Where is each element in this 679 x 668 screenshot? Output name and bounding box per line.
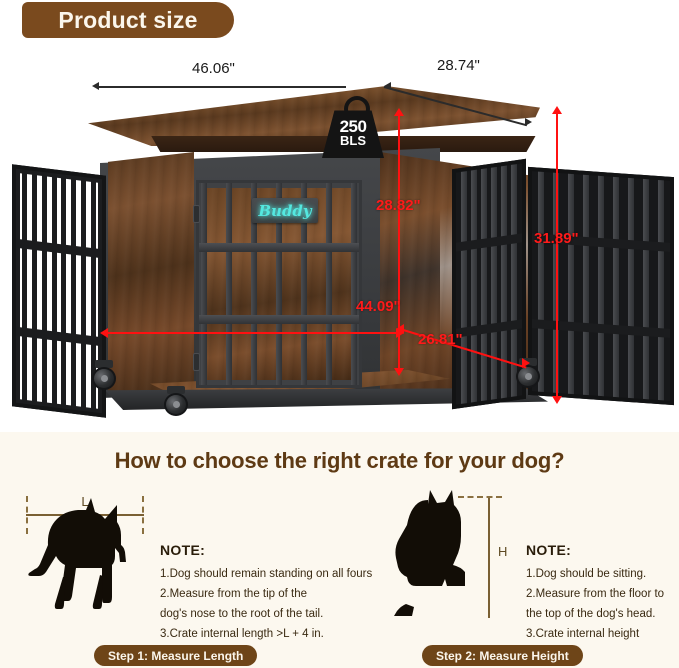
weight-capacity-unit: BLS [340, 134, 366, 148]
note-length-line-1: 1.Dog should remain standing on all four… [160, 564, 350, 584]
crate-selection-guide-section: How to choose the right crate for your d… [0, 432, 679, 668]
dim-arrow-width-left [92, 82, 99, 90]
note-height-line-1: 1.Dog should be sitting. [526, 564, 676, 584]
product-infographic: Product size [0, 0, 679, 668]
sitting-dog-illustration: H [384, 482, 534, 624]
crate-front-door-hinge-top [193, 205, 200, 223]
crate-nameplate: Buddy [252, 198, 318, 223]
crate-nameplate-text: Buddy [258, 202, 311, 220]
dog-crate-illustration: Buddy [0, 52, 679, 420]
note-length-line-4: 3.Crate internal length >L + 4 in. [160, 624, 350, 644]
dim-arrow-depth-right [525, 118, 532, 126]
dim-line-overall-height [556, 110, 558, 402]
dim-label-inner-depth: 26.81" [418, 331, 463, 348]
weight-capacity-value: 250 [340, 119, 367, 134]
guide-title: How to choose the right crate for your d… [0, 448, 679, 474]
crate-left-door-vertical-bars [16, 169, 102, 414]
dim-arrow-inner-depth-left [396, 324, 404, 334]
guide-panel-length: L NOTE: 1.Dog should remain standing on … [8, 482, 344, 622]
crate-left-interior-wood-panel [108, 152, 194, 398]
crate-top-edge [88, 136, 540, 152]
crate-front-door-crossbar-lower [199, 315, 359, 324]
crate-front-door-crossbar-upper [199, 243, 359, 252]
crate-right-open-door-outer-leaf [528, 167, 674, 405]
step-badge-measure-length: Step 1: Measure Length [94, 645, 257, 666]
product-size-section: Product size [0, 0, 679, 432]
product-size-badge-label: Product size [58, 7, 197, 34]
dog-standing-icon [8, 482, 158, 624]
guide-panel-height: H NOTE: 1.Dog should be sitting. 2.Measu… [344, 482, 676, 622]
caster-wheel-front-left [92, 360, 116, 390]
dim-arrow-overall-height-top [552, 106, 562, 114]
note-height-line-2: 2.Measure from the floor to [526, 584, 676, 604]
dim-label-overall-height: 31.89" [534, 230, 579, 247]
note-length-title: NOTE: [160, 540, 350, 560]
note-height-title: NOTE: [526, 540, 676, 560]
dim-line-inner-length [106, 332, 402, 334]
caster-wheel-front-center [164, 386, 188, 416]
standing-dog-illustration: L [8, 482, 158, 624]
height-measure-marker: H [476, 488, 526, 618]
note-height-line-4: 3.Crate internal height [526, 624, 676, 644]
note-length: NOTE: 1.Dog should remain standing on al… [160, 540, 350, 644]
crate-right-open-door-inner-leaf [452, 159, 526, 409]
dim-arrow-overall-height-bottom [552, 396, 562, 404]
note-height-line-3: the top of the dog's head. [526, 604, 676, 624]
crate-right-outer-leaf-bars [532, 171, 670, 401]
dim-arrow-inner-depth-right [522, 358, 530, 368]
note-length-line-3: dog's nose to the root of the tail. [160, 604, 350, 624]
note-length-line-2: 2.Measure from the tip of the [160, 584, 350, 604]
dim-label-inner-length: 44.09" [356, 298, 401, 315]
step-badge-measure-height: Step 2: Measure Height [422, 645, 583, 666]
dim-arrow-depth-left [384, 82, 391, 90]
height-measure-label: H [498, 544, 507, 559]
dim-line-overall-width [96, 86, 346, 88]
dim-arrow-inner-length-left [100, 328, 108, 338]
dim-label-overall-width: 46.06" [192, 60, 235, 77]
height-tick-top [458, 496, 502, 498]
step-badge-measure-height-label: Step 2: Measure Height [436, 649, 569, 663]
dim-arrow-inner-height-bottom [394, 368, 404, 376]
step-badge-measure-length-label: Step 1: Measure Length [108, 649, 243, 663]
dim-arrow-inner-height-top [394, 108, 404, 116]
dim-label-overall-depth: 28.74" [437, 57, 480, 74]
crate-front-door-hinge-bottom [193, 353, 200, 371]
dim-label-inner-height: 28.82" [376, 197, 421, 214]
product-size-badge: Product size [22, 2, 234, 38]
crate-right-inner-leaf-bars [456, 163, 522, 404]
height-measure-bar [488, 498, 490, 618]
